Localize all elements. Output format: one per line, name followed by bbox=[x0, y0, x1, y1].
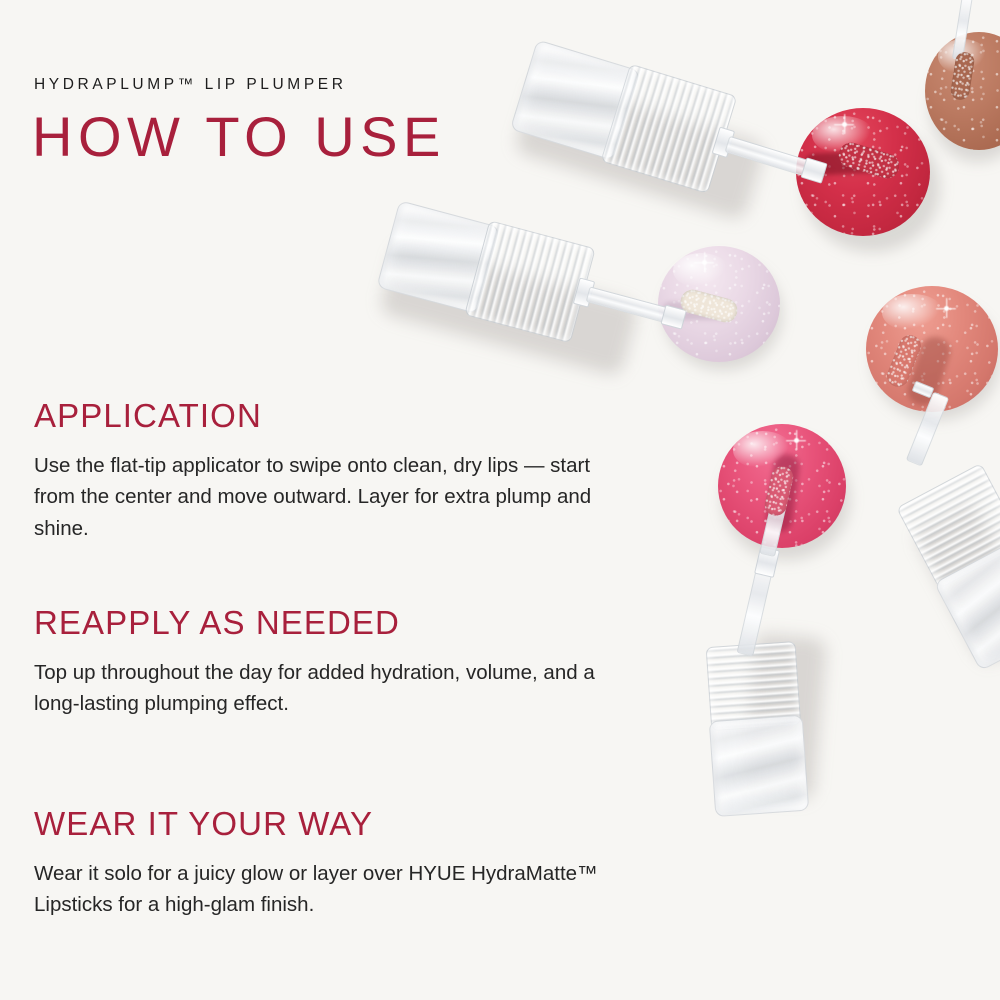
bottle-lower-cap-base bbox=[709, 715, 809, 817]
instruction-section-reapply: REAPPLY AS NEEDED Top up throughout the … bbox=[34, 605, 634, 720]
instructions-text-column: HYDRAPLUMP™ LIP PLUMPER HOW TO USE APPLI… bbox=[34, 0, 664, 1000]
page-title: HOW TO USE bbox=[32, 108, 446, 167]
coral-swatch-sparkle bbox=[944, 306, 949, 311]
section-heading-wear: WEAR IT YOUR WAY bbox=[34, 806, 634, 842]
bottle-top-tip-collar bbox=[800, 157, 827, 184]
pearl-swatch-sparkle bbox=[702, 260, 707, 265]
lip-gloss-bottle-right bbox=[885, 430, 1000, 695]
instruction-section-wear: WEAR IT YOUR WAY Wear it solo for a juic… bbox=[34, 806, 634, 921]
section-heading-reapply: REAPPLY AS NEEDED bbox=[34, 605, 634, 641]
instruction-section-application: APPLICATION Use the flat-tip applicator … bbox=[34, 398, 634, 544]
pink-swatch-sparkle bbox=[794, 438, 799, 443]
section-body-wear: Wear it solo for a juicy glow or layer o… bbox=[34, 858, 624, 920]
section-heading-application: APPLICATION bbox=[34, 398, 634, 434]
section-body-application: Use the flat-tip applicator to swipe ont… bbox=[34, 450, 624, 543]
section-body-reapply: Top up throughout the day for added hydr… bbox=[34, 657, 634, 719]
product-eyebrow-label: HYDRAPLUMP™ LIP PLUMPER bbox=[34, 76, 347, 94]
